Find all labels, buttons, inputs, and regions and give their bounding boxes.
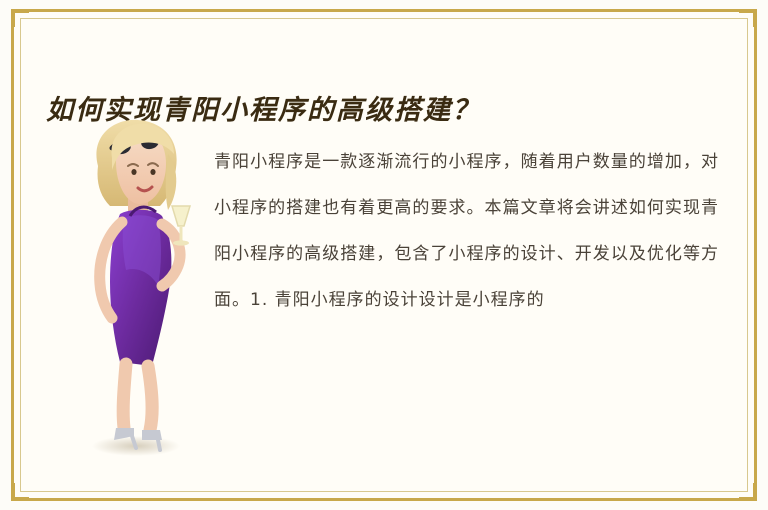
document-content: 如何实现青阳小程序的高级搭建？	[24, 22, 744, 488]
woman-in-purple-dress-illustration	[64, 114, 214, 464]
article-body: 青阳小程序是一款逐渐流行的小程序，随着用户数量的增加，对小程序的搭建也有着更高的…	[214, 139, 719, 323]
document-page: 如何实现青阳小程序的高级搭建？	[0, 0, 768, 510]
